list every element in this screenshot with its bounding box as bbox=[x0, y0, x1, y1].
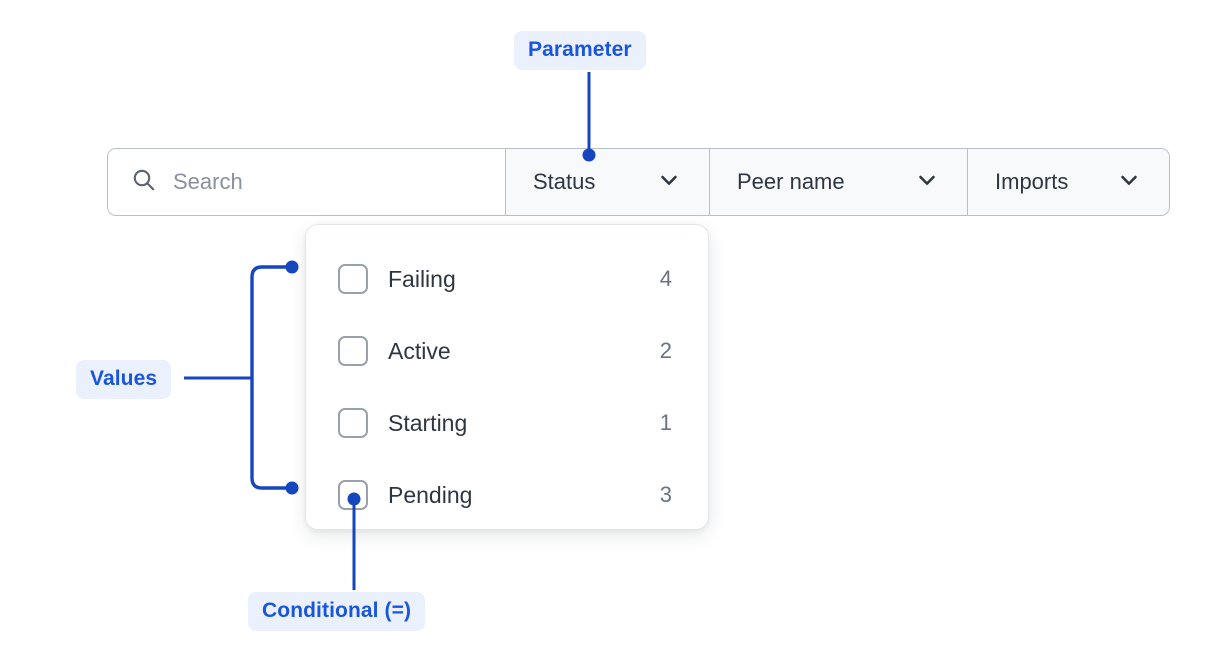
checkbox-failing[interactable] bbox=[338, 264, 368, 294]
peer-name-filter-segment[interactable]: Peer name bbox=[710, 149, 968, 215]
search-input[interactable] bbox=[173, 162, 473, 202]
dropdown-option-label: Pending bbox=[388, 482, 654, 509]
dropdown-option-failing[interactable]: Failing 4 bbox=[306, 243, 708, 315]
dropdown-option-count: 3 bbox=[654, 482, 672, 508]
search-segment[interactable] bbox=[108, 149, 506, 215]
dropdown-option-label: Failing bbox=[388, 266, 654, 293]
dropdown-option-count: 4 bbox=[654, 266, 672, 292]
dropdown-option-count: 1 bbox=[654, 410, 672, 436]
connector-values-bracket bbox=[252, 267, 289, 488]
annotation-label-values: Values bbox=[76, 360, 171, 399]
filter-bar: Status Peer name Imports bbox=[107, 148, 1170, 216]
dropdown-option-count: 2 bbox=[654, 338, 672, 364]
connector-dot-values-bottom bbox=[286, 482, 299, 495]
connector-dot-values-top bbox=[286, 261, 299, 274]
chevron-down-icon bbox=[914, 167, 940, 198]
dropdown-option-active[interactable]: Active 2 bbox=[306, 315, 708, 387]
peer-name-filter-label: Peer name bbox=[737, 169, 845, 195]
checkbox-starting[interactable] bbox=[338, 408, 368, 438]
dropdown-option-label: Active bbox=[388, 338, 654, 365]
dropdown-option-pending[interactable]: Pending 3 bbox=[306, 459, 708, 531]
search-icon bbox=[131, 167, 157, 198]
annotation-label-parameter: Parameter bbox=[514, 31, 646, 70]
status-filter-segment[interactable]: Status bbox=[506, 149, 710, 215]
status-filter-label: Status bbox=[533, 169, 595, 195]
imports-filter-label: Imports bbox=[995, 169, 1068, 195]
imports-filter-segment[interactable]: Imports bbox=[968, 149, 1169, 215]
annotated-filter-diagram: Status Peer name Imports bbox=[0, 0, 1224, 660]
annotation-label-conditional: Conditional (=) bbox=[248, 592, 425, 631]
chevron-down-icon bbox=[656, 167, 682, 198]
chevron-down-icon bbox=[1116, 167, 1142, 198]
checkbox-active[interactable] bbox=[338, 336, 368, 366]
dropdown-option-label: Starting bbox=[388, 410, 654, 437]
dropdown-option-starting[interactable]: Starting 1 bbox=[306, 387, 708, 459]
status-dropdown-options: Failing 4 Active 2 Starting 1 Pending 3 bbox=[305, 224, 709, 530]
checkbox-pending[interactable] bbox=[338, 480, 368, 510]
